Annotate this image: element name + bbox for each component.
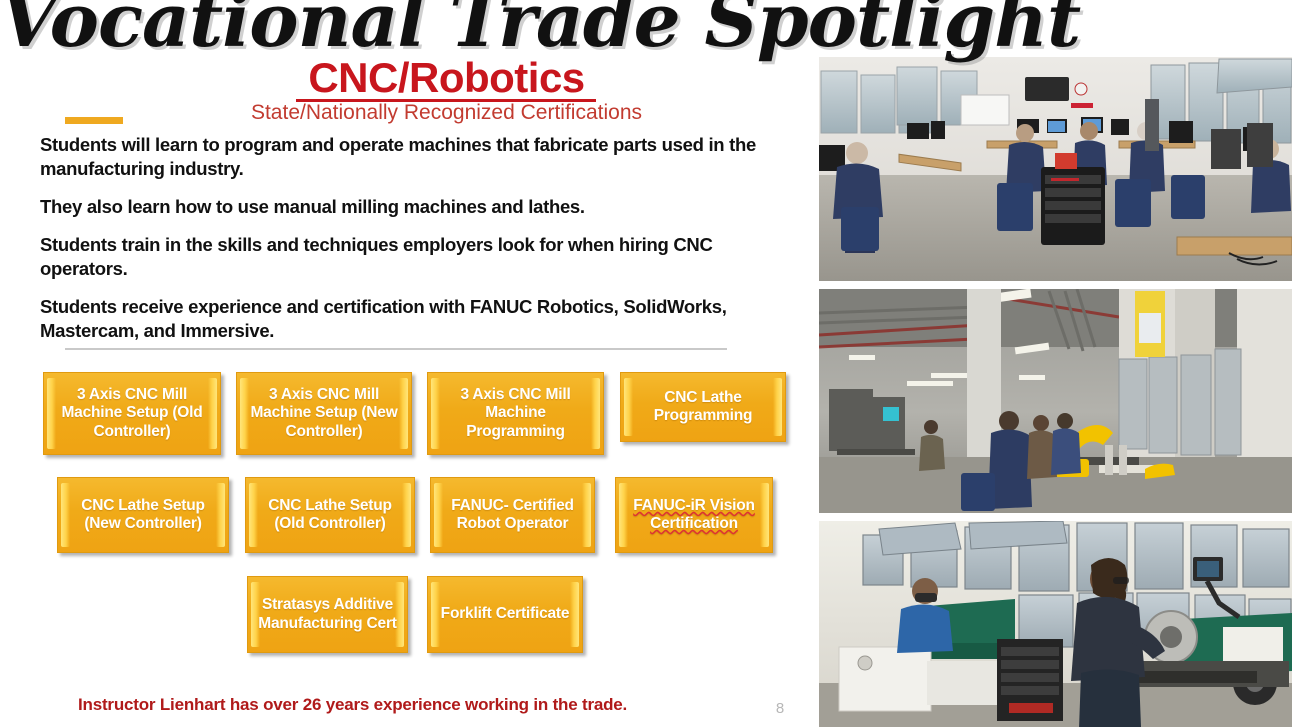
certification-badge: Stratasys Additive Manufacturing Cert <box>247 576 408 653</box>
certification-badge: Forklift Certificate <box>427 576 583 653</box>
certification-badge: 3 Axis CNC Mill Machine Setup (New Contr… <box>236 372 412 455</box>
description-paragraph: Students train in the skills and techniq… <box>40 233 788 281</box>
certification-badge-label: Forklift Certificate <box>431 605 580 623</box>
certification-badge: 3 Axis CNC Mill Machine Programming <box>427 372 604 455</box>
certification-badge-label: 3 Axis CNC Mill Machine Programming <box>428 386 603 441</box>
certification-badge: CNC Lathe Setup (Old Controller) <box>245 477 415 553</box>
program-description: Students will learn to program and opera… <box>40 133 788 357</box>
certification-badge-label: CNC Lathe Setup (New Controller) <box>58 497 228 534</box>
program-subtitle: State/Nationally Recognized Certificatio… <box>0 101 893 125</box>
instructor-note: Instructor Lienhart has over 26 years ex… <box>78 695 627 715</box>
page-number: 8 <box>770 700 790 717</box>
certification-badge-label: FANUC- Certified Robot Operator <box>431 497 594 534</box>
certification-badge-label: CNC Lathe Setup (Old Controller) <box>246 497 414 534</box>
description-paragraph: They also learn how to use manual millin… <box>40 195 788 219</box>
certification-badge-label: Stratasys Additive Manufacturing Cert <box>248 596 407 633</box>
slide-canvas: Vocational Trade Spotlight CNC/Robotics … <box>0 0 1292 727</box>
description-paragraph: Students will learn to program and opera… <box>40 133 788 181</box>
certification-badge: FANUC-iR Vision Certification <box>615 477 773 553</box>
certification-badge-label: 3 Axis CNC Mill Machine Setup (Old Contr… <box>44 386 220 441</box>
certification-badge-label: CNC Lathe Programming <box>621 389 785 426</box>
photo-machine-shop-lathes <box>819 521 1292 727</box>
photo-robotics-workshop <box>819 289 1292 513</box>
certification-badge: 3 Axis CNC Mill Machine Setup (Old Contr… <box>43 372 221 455</box>
certification-badge: CNC Lathe Setup (New Controller) <box>57 477 229 553</box>
certification-badge-label: 3 Axis CNC Mill Machine Setup (New Contr… <box>237 386 411 441</box>
certification-badge: CNC Lathe Programming <box>620 372 786 442</box>
certification-badge-label: FANUC-iR Vision Certification <box>616 497 772 534</box>
section-divider <box>65 348 727 350</box>
description-paragraph: Students receive experience and certific… <box>40 295 788 343</box>
slide-script-title: Vocational Trade Spotlight <box>0 0 1010 58</box>
certification-badge: FANUC- Certified Robot Operator <box>430 477 595 553</box>
